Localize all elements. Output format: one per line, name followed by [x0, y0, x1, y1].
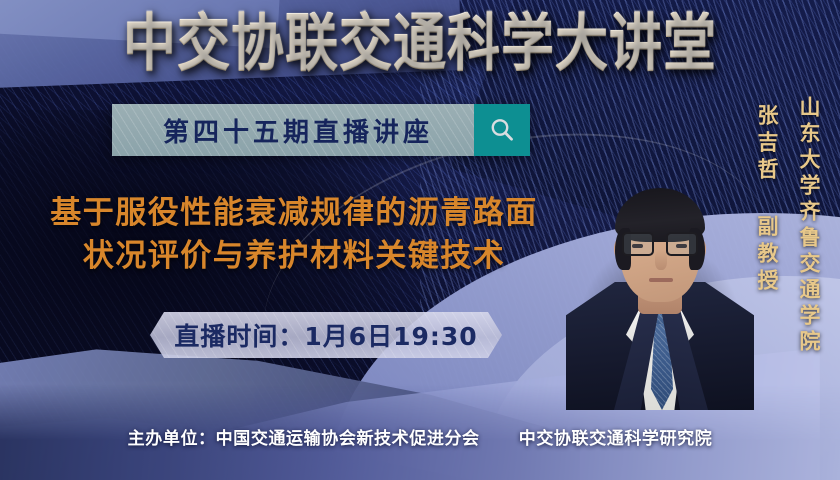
broadcast-time-badge: 直播时间：1月6日19:30: [150, 312, 502, 358]
glasses-lens-left: [622, 232, 654, 256]
portrait-mouth: [649, 278, 673, 282]
organizer-primary: 主办单位：中国交通运输协会新技术促进分会: [128, 429, 480, 449]
glasses-bridge: [654, 240, 666, 242]
speaker-affiliation: 山东大学齐鲁交通学院: [794, 96, 824, 356]
webinar-poster: 中交协联交通科学大讲堂 第四十五期直播讲座 基于服役性能衰减规律的沥青路面 状况…: [0, 0, 840, 480]
glasses-lens-right: [666, 232, 698, 256]
episode-search-bar[interactable]: 第四十五期直播讲座: [112, 104, 530, 156]
speaker-name-title: 张吉哲 副教授: [752, 104, 782, 296]
search-input-value: 第四十五期直播讲座: [153, 112, 433, 149]
organizer-footer: 主办单位：中国交通运输协会新技术促进分会 中交协联交通科学研究院: [0, 424, 840, 449]
lecture-title-line2: 状况评价与养护材料关键技术: [16, 235, 572, 278]
page-title: 中交协联交通科学大讲堂: [0, 12, 840, 75]
broadcast-time-label: 直播时间：1月6日19:30: [174, 317, 477, 353]
search-button[interactable]: [474, 104, 530, 156]
search-input[interactable]: 第四十五期直播讲座: [112, 104, 474, 156]
search-icon: [487, 115, 517, 145]
speaker-portrait: [562, 110, 758, 410]
lecture-title: 基于服役性能衰减规律的沥青路面 状况评价与养护材料关键技术: [16, 192, 572, 278]
lecture-title-line1: 基于服役性能衰减规律的沥青路面: [50, 195, 538, 231]
portrait-glasses: [620, 232, 700, 258]
organizer-secondary: 中交协联交通科学研究院: [519, 429, 713, 449]
